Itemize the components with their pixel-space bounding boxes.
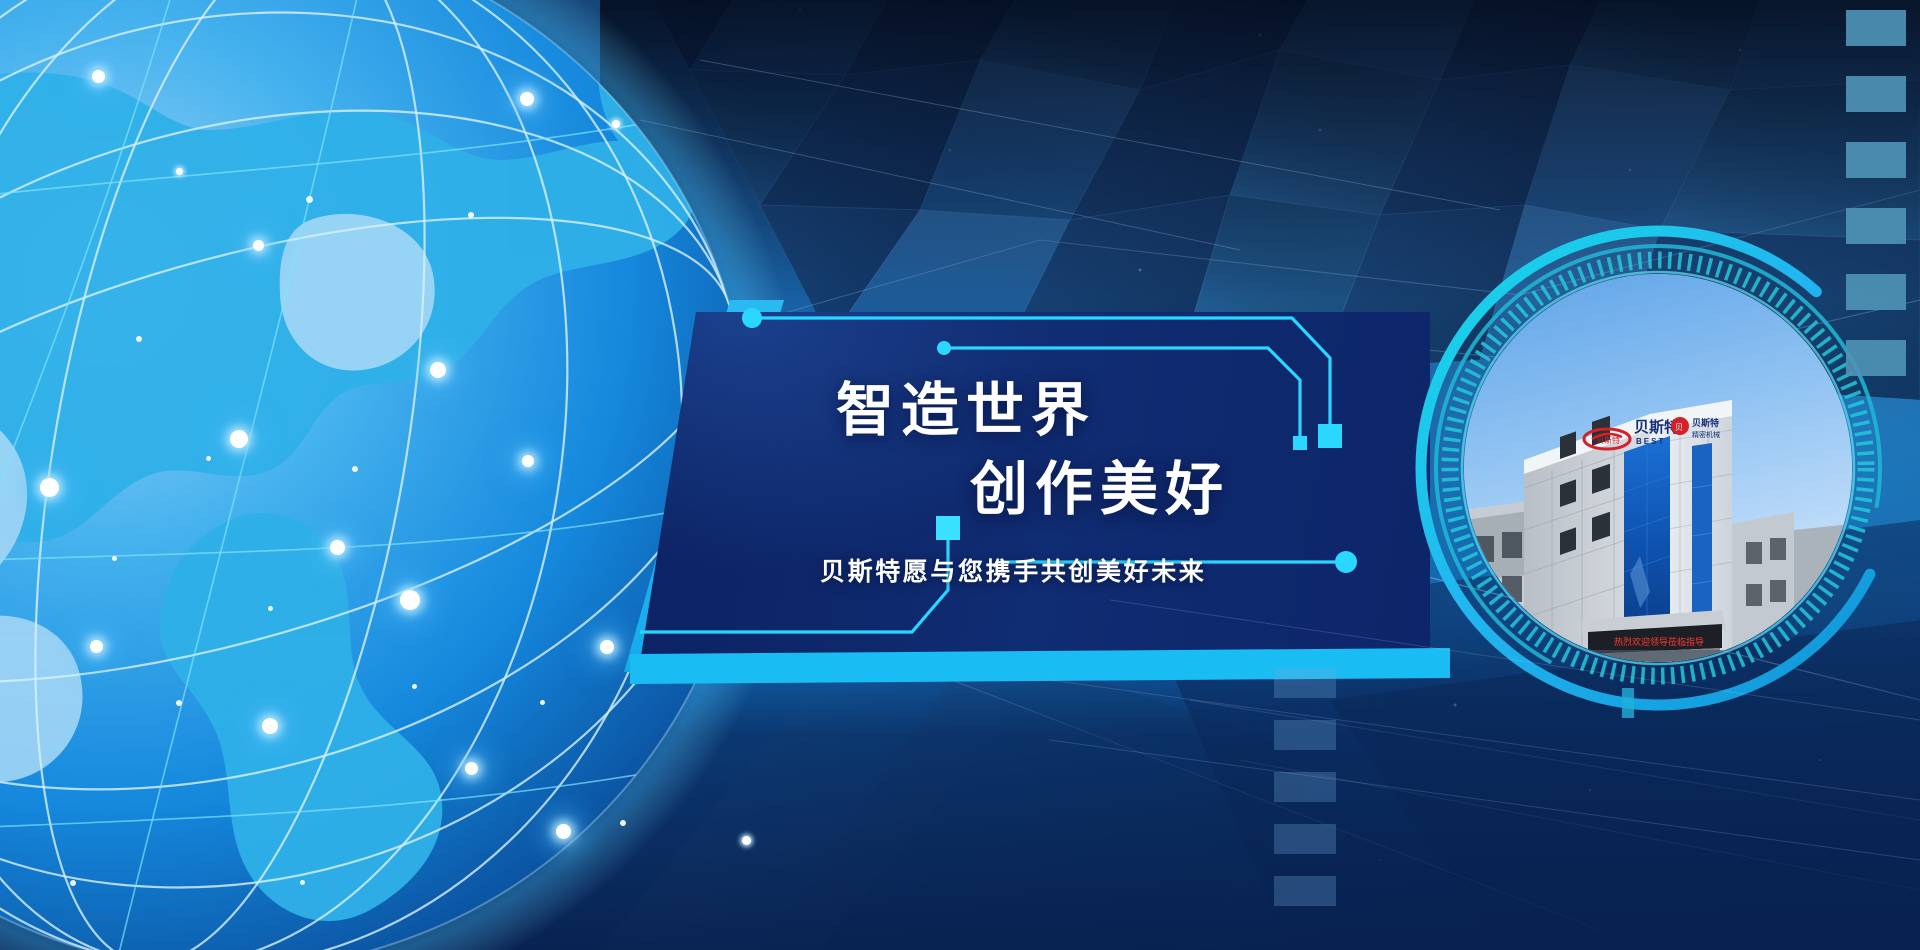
decor-block bbox=[1274, 876, 1336, 906]
right-edge-block-stack bbox=[1830, 10, 1920, 406]
mid-block-stack bbox=[1274, 668, 1354, 928]
decor-block bbox=[1846, 10, 1906, 46]
decor-block bbox=[1846, 76, 1906, 112]
decor-block bbox=[1846, 274, 1906, 310]
headline-copy-block: 智造世界 创作美好 贝斯特愿与您携手共创美好未来 bbox=[640, 312, 1430, 662]
banner-subtitle: 贝斯特愿与您携手共创美好未来 bbox=[640, 552, 1374, 588]
decor-block bbox=[1274, 720, 1336, 750]
decor-block bbox=[1274, 824, 1336, 854]
headline-line-1: 智造世界 bbox=[640, 374, 1374, 447]
decor-block bbox=[1274, 772, 1336, 802]
decor-block bbox=[1846, 142, 1906, 178]
decor-block bbox=[1274, 668, 1336, 698]
decor-block bbox=[1846, 340, 1906, 376]
headline-line-2: 创作美好 bbox=[640, 453, 1374, 526]
decor-block bbox=[1846, 208, 1906, 244]
hero-banner: 智造世界 创作美好 贝斯特愿与您携手共创美好未来 bbox=[0, 0, 1920, 950]
